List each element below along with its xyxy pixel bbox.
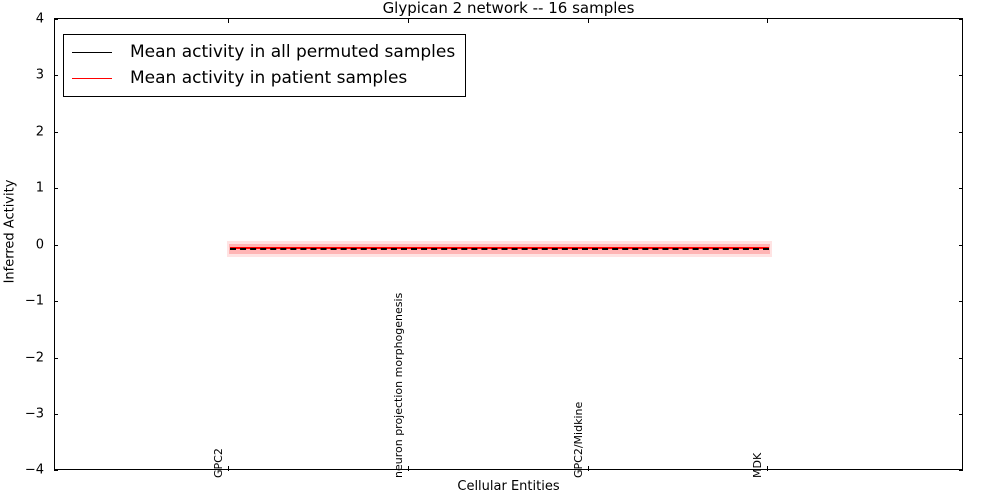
legend-label-permuted: Mean activity in all permuted samples	[130, 42, 455, 62]
x-tick-mark	[228, 466, 229, 471]
y-tick-mark-right	[959, 470, 963, 471]
y-tick-label: −4	[0, 463, 44, 478]
permuted-mean-line	[230, 248, 769, 250]
x-tick-mark	[767, 466, 768, 471]
figure-canvas: Glypican 2 network -- 16 samples Mean ac…	[0, 0, 1000, 500]
y-axis-label: Inferred Activity	[3, 32, 18, 432]
y-tick-mark	[54, 358, 58, 359]
y-tick-mark-right	[959, 188, 963, 189]
y-tick-mark-right	[959, 245, 963, 246]
legend-label-patient: Mean activity in patient samples	[130, 68, 407, 88]
y-tick-mark-right	[959, 132, 963, 133]
y-tick-mark	[54, 414, 58, 415]
y-tick-mark	[54, 132, 58, 133]
x-tick-label-gpc2-midkine: GPC2/Midkine	[572, 402, 585, 478]
legend: Mean activity in all permuted samples Me…	[63, 34, 466, 97]
y-tick-mark	[54, 188, 58, 189]
y-tick-mark	[54, 470, 58, 471]
y-tick-mark-right	[959, 414, 963, 415]
legend-item-permuted: Mean activity in all permuted samples	[72, 39, 455, 65]
y-tick-mark	[54, 19, 58, 20]
x-tick-mark	[408, 466, 409, 471]
x-tick-mark-top	[408, 18, 409, 23]
y-tick-mark	[54, 75, 58, 76]
x-tick-label-gpc2: GPC2	[212, 448, 225, 478]
legend-item-patient: Mean activity in patient samples	[72, 65, 455, 91]
y-tick-mark	[54, 245, 58, 246]
legend-swatch-permuted	[72, 52, 112, 53]
x-tick-label-mdk: MDK	[751, 453, 764, 478]
y-tick-mark-right	[959, 358, 963, 359]
y-tick-label: 4	[0, 12, 44, 27]
chart-title: Glypican 2 network -- 16 samples	[54, 0, 963, 17]
x-tick-mark	[588, 466, 589, 471]
plot-area: Mean activity in all permuted samples Me…	[54, 18, 963, 470]
y-tick-mark-right	[959, 75, 963, 76]
y-tick-mark-right	[959, 301, 963, 302]
x-axis-label: Cellular Entities	[54, 479, 963, 494]
x-tick-mark-top	[228, 18, 229, 23]
legend-swatch-patient	[72, 78, 112, 79]
y-tick-mark-right	[959, 19, 963, 20]
x-tick-mark-top	[588, 18, 589, 23]
y-tick-mark	[54, 301, 58, 302]
x-tick-label-neuron-projection-morphogenesis: neuron projection morphogenesis	[392, 293, 405, 478]
x-tick-mark-top	[767, 18, 768, 23]
